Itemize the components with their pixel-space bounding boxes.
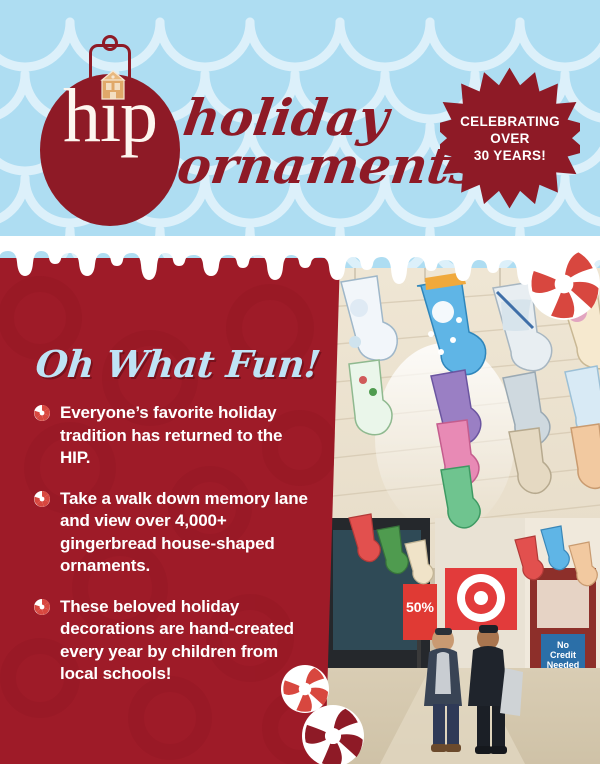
badge-line-2: OVER <box>490 130 529 147</box>
ornament-icon: hip <box>40 44 180 229</box>
badge-line-3: 30 YEARS! <box>474 147 546 164</box>
holiday-ornaments-flyer: hip holiday ornaments CELEBRATING OVER <box>0 0 600 764</box>
svg-text:Credit: Credit <box>550 650 576 660</box>
svg-text:50%: 50% <box>406 599 435 615</box>
list-item: Everyone’s favorite holiday tradition ha… <box>34 402 314 470</box>
list-item: These beloved holiday decorations are ha… <box>34 596 314 686</box>
header-banner: hip holiday ornaments CELEBRATING OVER <box>0 0 600 268</box>
peppermint-icon <box>34 599 50 615</box>
peppermint-icon <box>34 405 50 421</box>
list-item-text: Everyone’s favorite holiday tradition ha… <box>60 402 314 470</box>
peppermint-dark-bottom-icon <box>302 705 364 764</box>
gingerbread-house-icon <box>100 70 126 100</box>
anniversary-badge: CELEBRATING OVER 30 YEARS! <box>440 58 580 218</box>
list-item: Take a walk down memory lane and view ov… <box>34 488 314 578</box>
wordmark: holiday ornaments <box>178 88 438 208</box>
list-item-text: Take a walk down memory lane and view ov… <box>60 488 314 578</box>
badge-text: CELEBRATING OVER 30 YEARS! <box>440 58 580 218</box>
badge-line-1: CELEBRATING <box>460 113 560 130</box>
page-title: Oh What Fun! <box>34 344 314 384</box>
list-item-text: These beloved holiday decorations are ha… <box>60 596 314 686</box>
photo-illustration: No Credit Needed 50% <box>325 268 600 764</box>
ornament-display-photo: No Credit Needed 50% <box>325 268 600 764</box>
wordmark-line-ornaments: ornaments <box>174 136 483 195</box>
svg-text:No: No <box>557 640 569 650</box>
peppermint-icon <box>34 491 50 507</box>
copy-block: Oh What Fun! Everyone’s favorite holiday… <box>34 344 314 686</box>
peppermint-large-top-icon <box>528 248 600 320</box>
